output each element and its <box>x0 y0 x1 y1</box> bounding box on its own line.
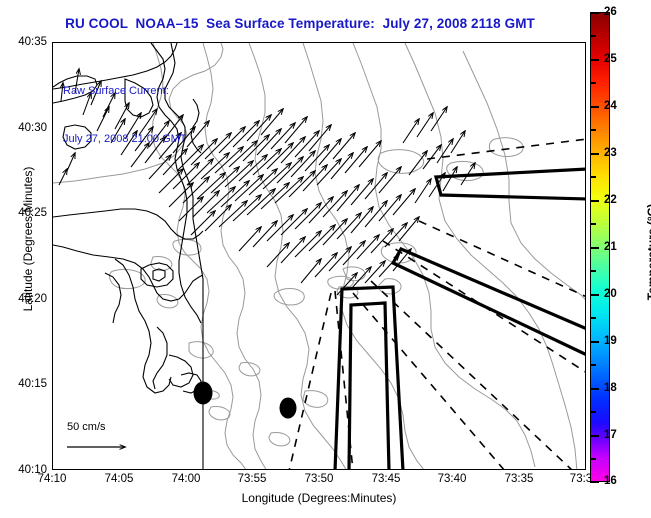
dashed-transect-lines <box>289 139 586 470</box>
cbtick-minor-7 <box>590 317 596 319</box>
station-marker-1 <box>194 382 213 405</box>
sst-contour-lines <box>53 43 586 470</box>
map-plot-area[interactable]: Raw Surface Current: July 27, 2008 21:00… <box>52 42 586 470</box>
map-graphics <box>53 43 586 470</box>
coastline <box>53 43 203 470</box>
cbtick-minor-2 <box>590 82 596 84</box>
scale-bar-legend: 50 cm/s <box>61 421 171 465</box>
cbtick-minor-4 <box>590 176 596 178</box>
cbtick-minor-8 <box>590 364 596 366</box>
cblabel-17: 17 <box>604 429 617 441</box>
cbtick-19 <box>590 341 599 343</box>
cblabel-25: 25 <box>604 53 617 65</box>
xtick-2: 74:00 <box>172 473 201 485</box>
station-marker-2 <box>280 398 297 419</box>
cblabel-19: 19 <box>604 335 617 347</box>
xtick-1: 74:05 <box>105 473 134 485</box>
figure-title: RU COOL NOAA–15 Sea Surface Temperature:… <box>0 16 600 31</box>
cbtick-minor-10 <box>590 458 596 460</box>
colorbar-title: Temperature (°C) <box>645 162 651 342</box>
xtick-8: 73:3 <box>570 473 592 485</box>
ytick-0: 40:35 <box>18 36 47 48</box>
xtick-3: 73:55 <box>238 473 267 485</box>
cbtick-minor-6 <box>590 270 596 272</box>
xtick-4: 73:50 <box>305 473 334 485</box>
ytick-4: 40:15 <box>18 378 47 390</box>
cbtick-minor-3 <box>590 129 596 131</box>
cbtick-25 <box>590 59 599 61</box>
cbtick-17 <box>590 435 599 437</box>
xtick-7: 73:35 <box>505 473 534 485</box>
cbtick-24 <box>590 106 599 108</box>
xtick-6: 73:40 <box>438 473 467 485</box>
x-axis-label: Longitude (Degrees:Minutes) <box>52 491 586 505</box>
cbtick-16 <box>590 481 599 483</box>
cblabel-23: 23 <box>604 147 617 159</box>
cbtick-21 <box>590 247 599 249</box>
ytick-5: 40:10 <box>18 464 47 476</box>
cblabel-22: 22 <box>604 194 617 206</box>
cbtick-26 <box>590 12 599 14</box>
cblabel-24: 24 <box>604 100 617 112</box>
cblabel-26: 26 <box>604 6 617 18</box>
cblabel-16: 16 <box>604 475 617 487</box>
survey-track-polygons <box>335 169 586 470</box>
cbtick-23 <box>590 153 599 155</box>
cbtick-minor-5 <box>590 223 596 225</box>
cblabel-18: 18 <box>604 382 617 394</box>
cbtick-20 <box>590 294 599 296</box>
cbtick-22 <box>590 200 599 202</box>
xtick-5: 73:45 <box>372 473 401 485</box>
cbtick-minor-1 <box>590 35 596 37</box>
cblabel-21: 21 <box>604 241 617 253</box>
ytick-1: 40:30 <box>18 122 47 134</box>
scale-bar-label: 50 cm/s <box>67 421 106 433</box>
cblabel-20: 20 <box>604 288 617 300</box>
y-axis-label: Latitude (Degrees:Minutes) <box>21 149 35 329</box>
cbtick-18 <box>590 388 599 390</box>
cbtick-minor-9 <box>590 411 596 413</box>
sst-map-figure: RU COOL NOAA–15 Sea Surface Temperature:… <box>0 0 651 518</box>
